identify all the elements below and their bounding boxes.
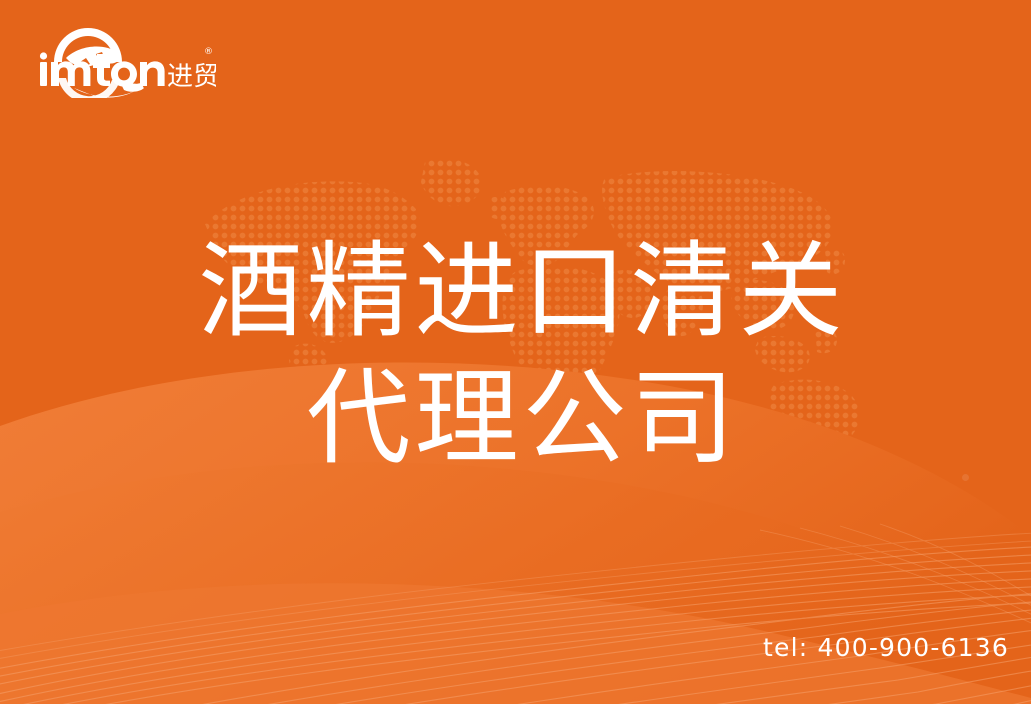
poster-canvas: 进贸通 ® 酒精进口清关 代理公司 tel: 400-900-6136 xyxy=(0,0,1031,704)
contour-line-decoration xyxy=(0,520,1031,704)
title-line-1: 酒精进口清关 xyxy=(0,228,1031,355)
svg-text:进贸通: 进贸通 xyxy=(167,62,216,92)
logo-globe-icon: 进贸通 ® xyxy=(36,28,216,98)
brand-logo: 进贸通 ® xyxy=(36,28,216,98)
svg-text:®: ® xyxy=(204,47,213,57)
title-line-2: 代理公司 xyxy=(0,355,1031,482)
contact-phone: tel: 400-900-6136 xyxy=(763,633,1009,662)
page-title: 酒精进口清关 代理公司 xyxy=(0,228,1031,482)
